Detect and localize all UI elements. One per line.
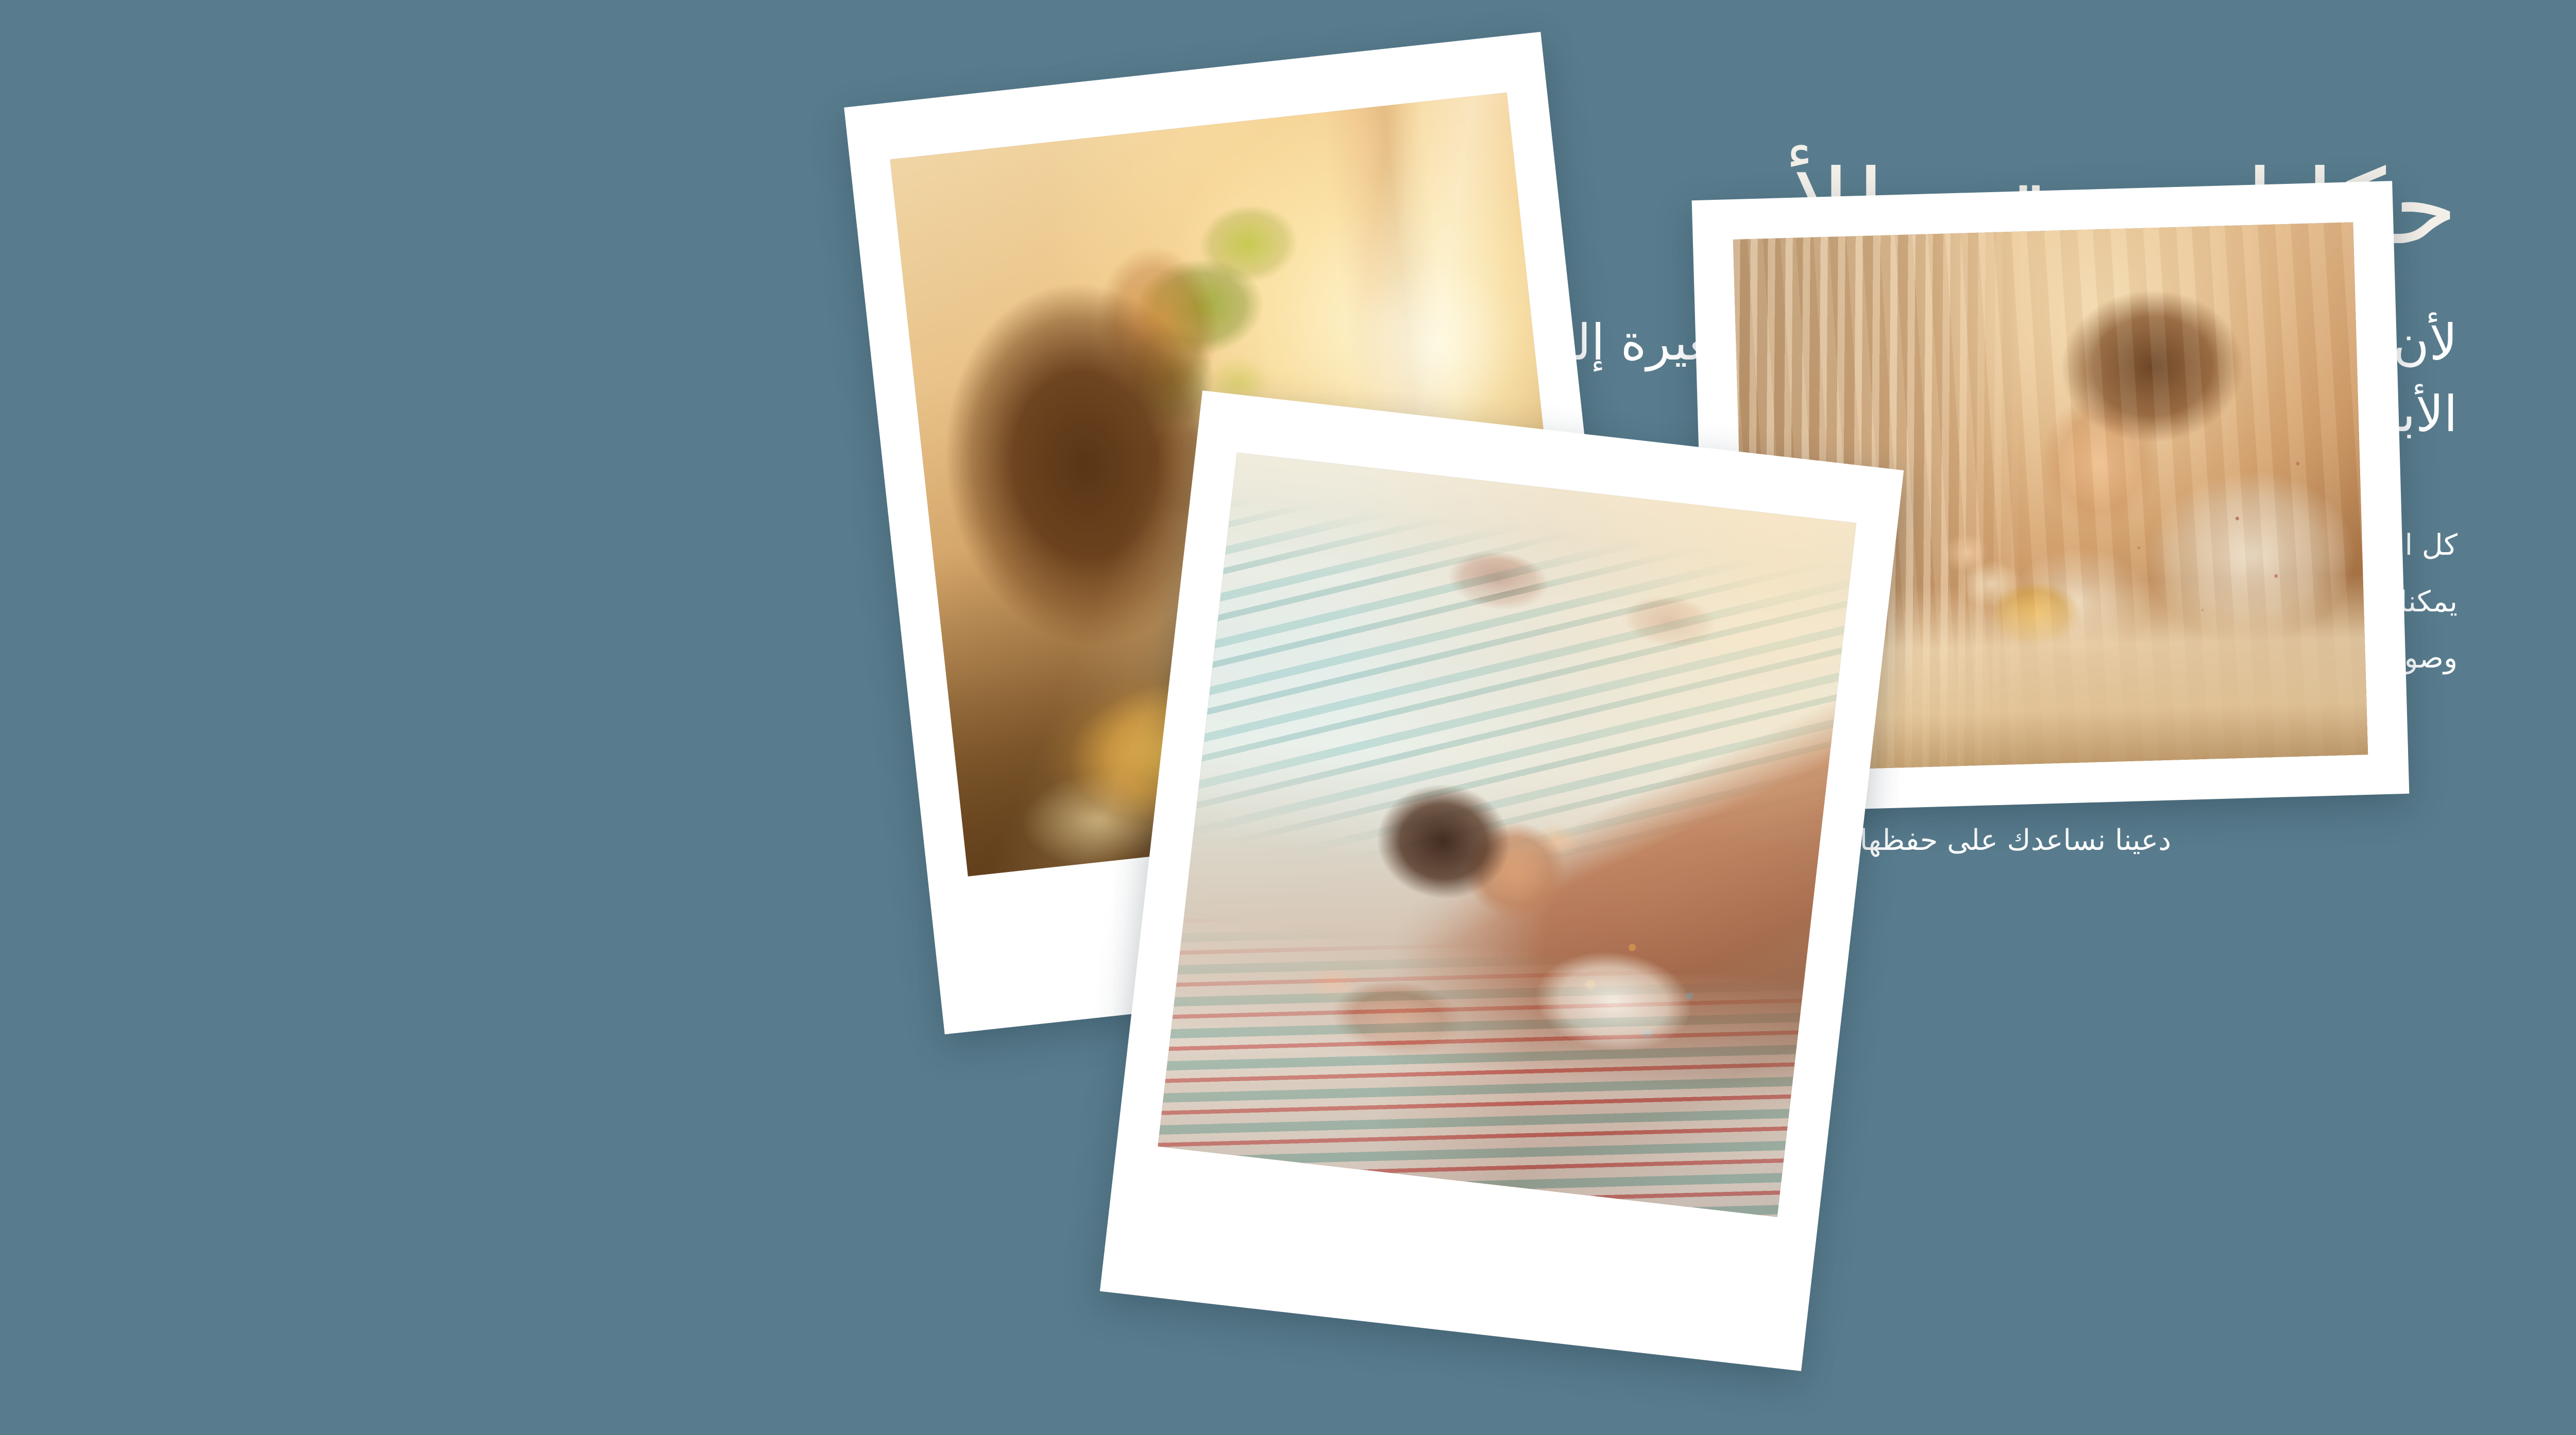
- hero-banner: حكايات تبقى للأبد لأن هذه اللحظات الصغير…: [0, 0, 2576, 1435]
- photo-newborn-in-hands: [1158, 452, 1856, 1217]
- photo-layer-warm-light: [1158, 452, 1856, 1217]
- photo-frame-newborn[interactable]: [1100, 390, 1904, 1371]
